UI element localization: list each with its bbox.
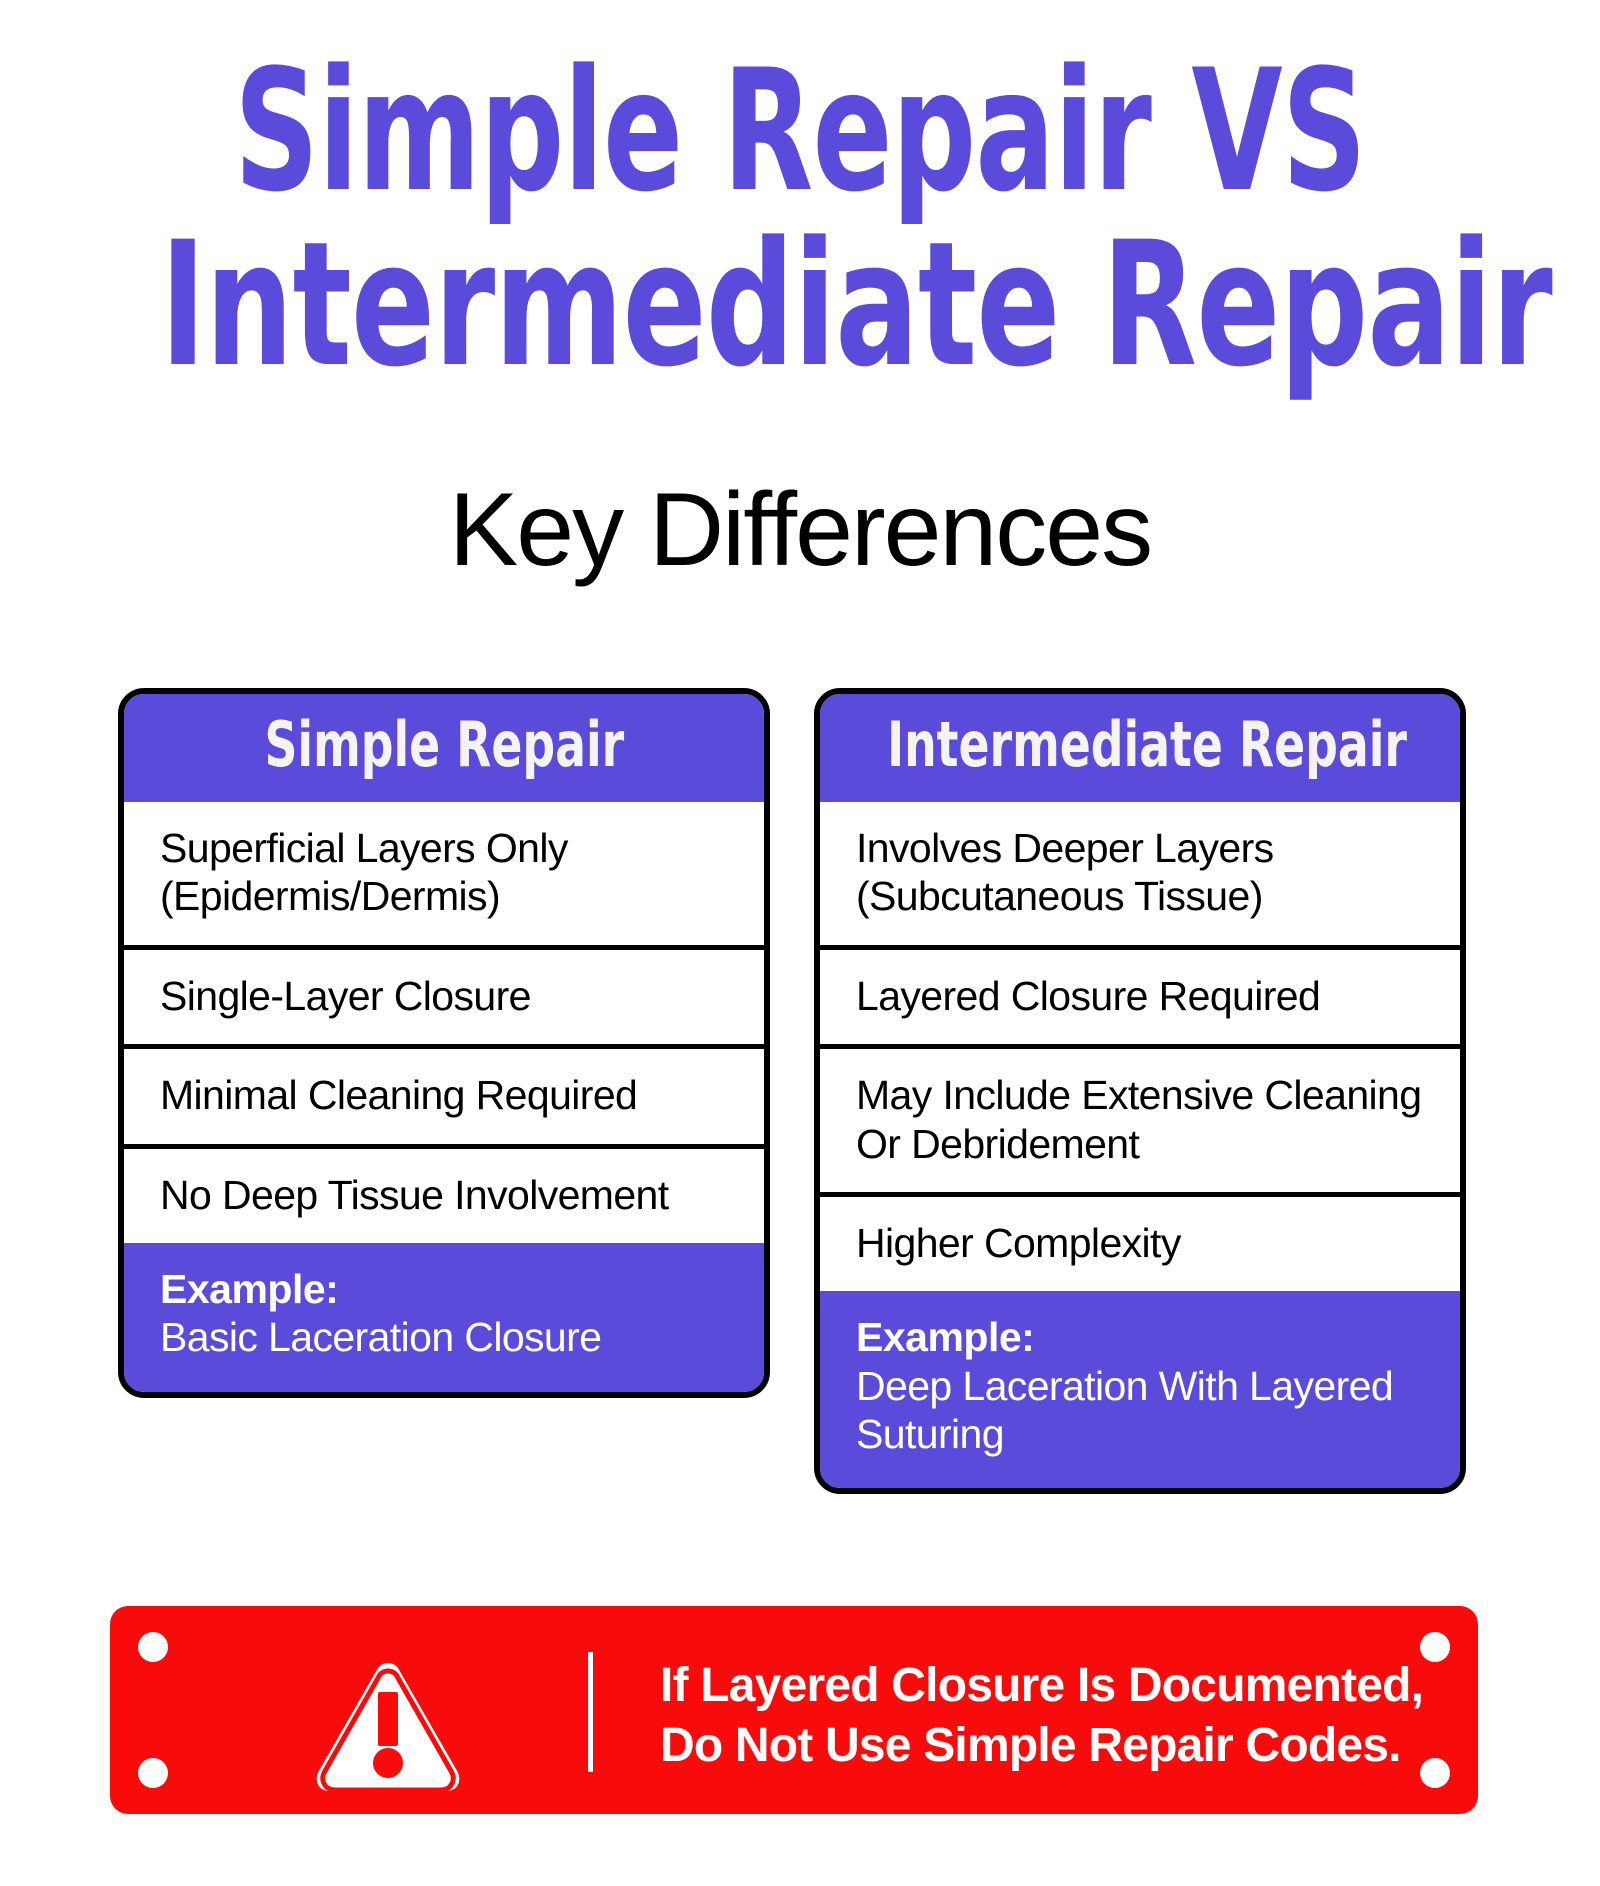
page-subtitle: Key Differences bbox=[0, 478, 1600, 582]
list-item: Superficial Layers Only (Epidermis/Dermi… bbox=[124, 802, 764, 945]
title-block: Simple Repair VS Intermediate Repair bbox=[0, 48, 1600, 391]
screw-hole-bottom-left bbox=[138, 1758, 168, 1788]
example-block-intermediate: Example: Deep Laceration With Layered Su… bbox=[820, 1291, 1460, 1488]
screw-hole-top-left bbox=[138, 1632, 168, 1662]
example-label: Example: bbox=[160, 1265, 734, 1313]
card-header-intermediate: Intermediate Repair bbox=[820, 694, 1460, 802]
list-item: Single-Layer Closure bbox=[124, 945, 764, 1044]
comparison-cards: Simple Repair Superficial Layers Only (E… bbox=[118, 688, 1482, 1494]
list-item: May Include Extensive Cleaning Or Debrid… bbox=[820, 1044, 1460, 1192]
card-header-simple: Simple Repair bbox=[124, 694, 764, 802]
banner-line-1: If Layered Closure Is Documented, bbox=[660, 1659, 1423, 1712]
example-text: Basic Laceration Closure bbox=[160, 1313, 734, 1361]
card-simple-rows: Superficial Layers Only (Epidermis/Dermi… bbox=[124, 802, 764, 1392]
card-intermediate-rows: Involves Deeper Layers (Subcutaneous Tis… bbox=[820, 802, 1460, 1488]
example-block-simple: Example: Basic Laceration Closure bbox=[124, 1243, 764, 1392]
title-line-1: Simple Repair VS bbox=[176, 48, 1424, 214]
card-header-intermediate-label: Intermediate Repair bbox=[887, 714, 1407, 776]
banner-message: If Layered Closure Is Documented, Do Not… bbox=[660, 1656, 1460, 1775]
example-label: Example: bbox=[856, 1313, 1430, 1361]
list-item: Higher Complexity bbox=[820, 1192, 1460, 1291]
title-line-2: Intermediate Repair bbox=[160, 220, 1440, 390]
card-simple-repair: Simple Repair Superficial Layers Only (E… bbox=[118, 688, 770, 1398]
warning-banner: If Layered Closure Is Documented, Do Not… bbox=[110, 1606, 1478, 1814]
list-item: Layered Closure Required bbox=[820, 945, 1460, 1044]
banner-line-2: Do Not Use Simple Repair Codes. bbox=[660, 1716, 1460, 1776]
card-header-simple-label: Simple Repair bbox=[264, 714, 624, 776]
list-item: No Deep Tissue Involvement bbox=[124, 1144, 764, 1243]
banner-divider bbox=[588, 1652, 593, 1772]
list-item: Involves Deeper Layers (Subcutaneous Tis… bbox=[820, 802, 1460, 945]
example-text: Deep Laceration With Layered Suturing bbox=[856, 1362, 1430, 1459]
list-item: Minimal Cleaning Required bbox=[124, 1044, 764, 1143]
card-intermediate-repair: Intermediate Repair Involves Deeper Laye… bbox=[814, 688, 1466, 1494]
warning-triangle-icon bbox=[308, 1654, 468, 1794]
